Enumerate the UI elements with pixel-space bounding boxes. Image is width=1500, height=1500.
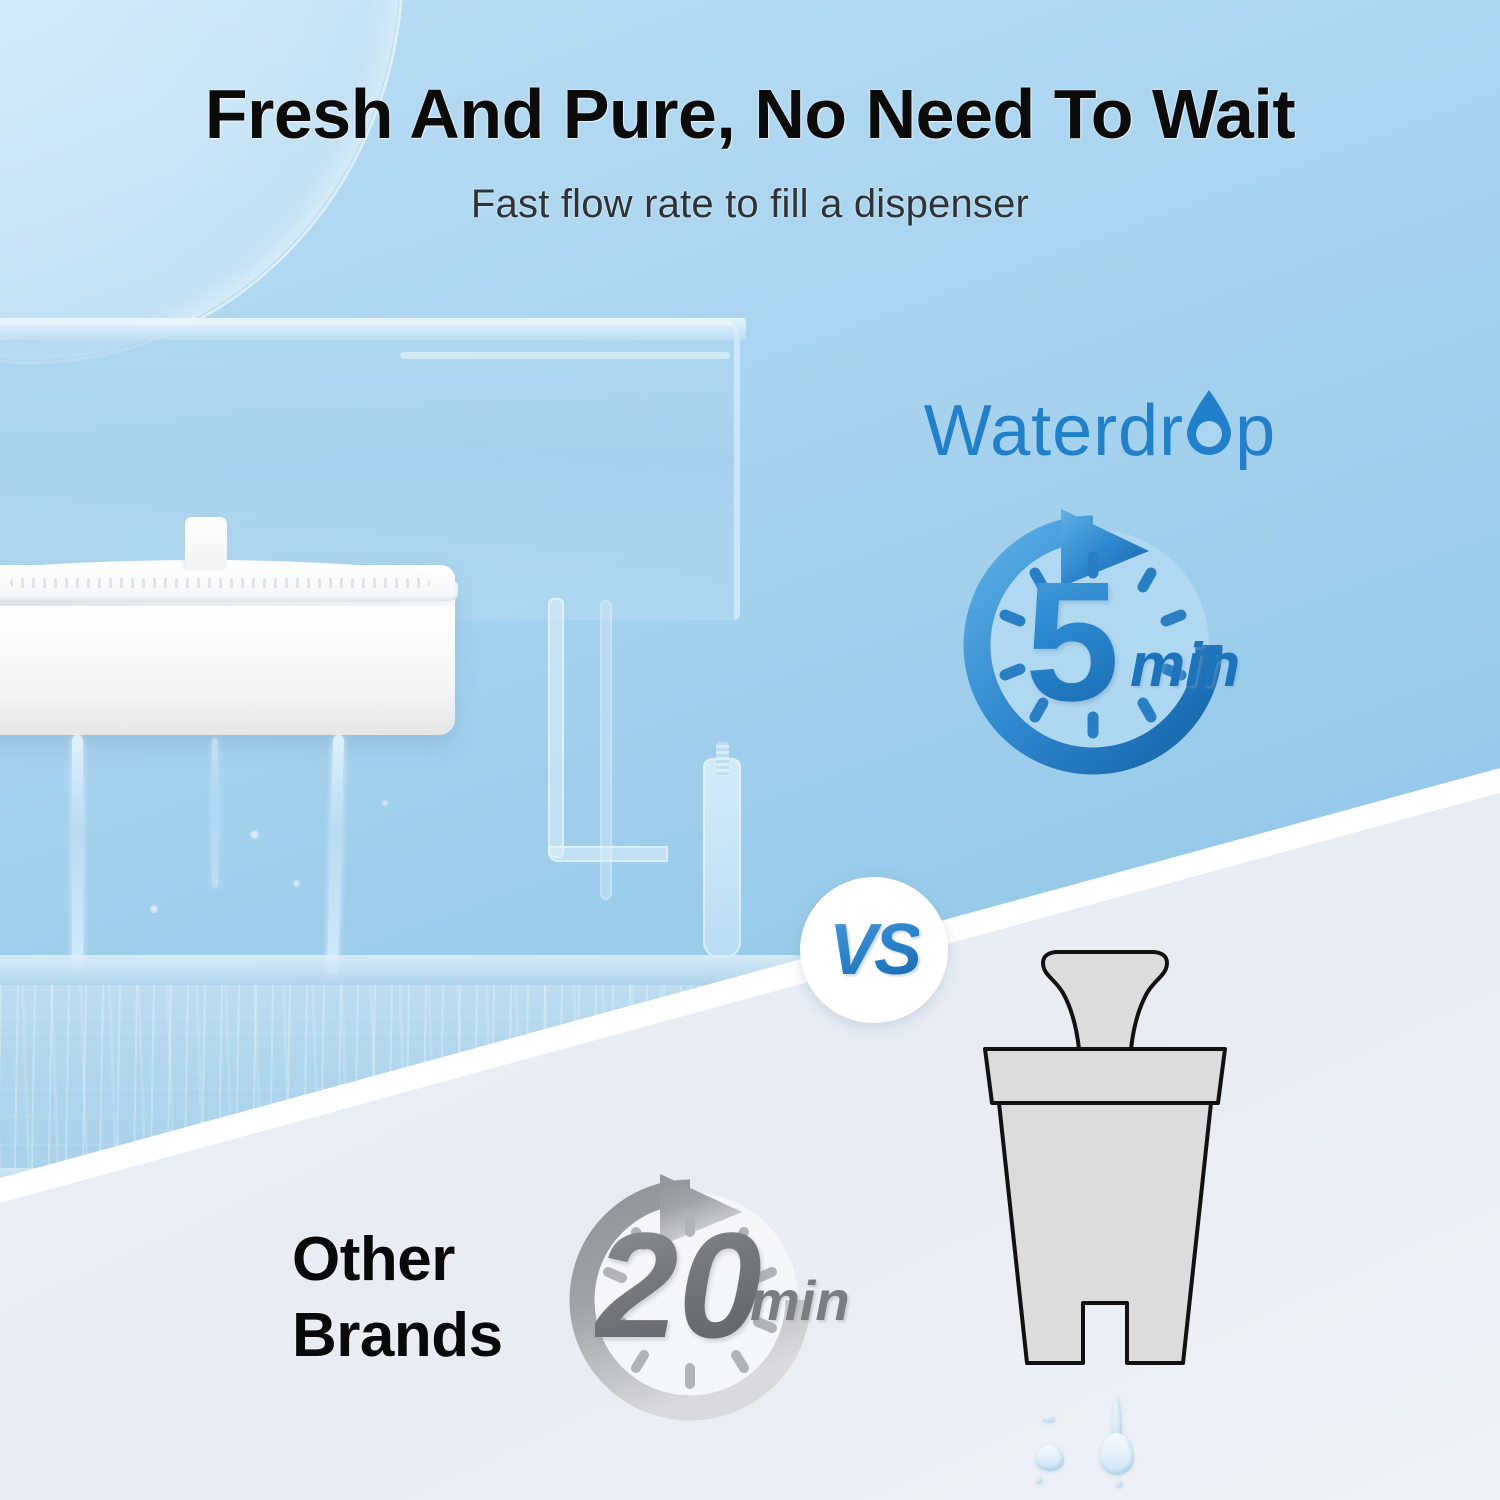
slow-water-drips	[1000, 1395, 1180, 1490]
water-drop	[1100, 1433, 1134, 1475]
other-brands-time-unit: min	[750, 1268, 850, 1333]
waterdrop-time-unit: min	[1130, 630, 1240, 701]
dispenser-tube-vertical	[548, 598, 564, 858]
other-brands-time-value: 20	[595, 1210, 762, 1360]
waterdrop-filter-mesh	[10, 578, 430, 588]
waterdrop-filter-seam	[0, 601, 455, 606]
waterdrop-filter-handle	[185, 517, 227, 569]
vs-label: VS	[829, 909, 919, 991]
other-brands-timer: 20 min	[520, 1160, 850, 1425]
dispenser-nozzle-tip	[716, 742, 729, 776]
water-droplet	[1036, 1477, 1043, 1484]
water-bubble	[250, 830, 259, 839]
water-stream	[72, 735, 83, 970]
page-subtitle: Fast flow rate to fill a dispenser	[0, 182, 1500, 227]
water-stream	[212, 738, 218, 888]
page-title: Fresh And Pure, No Need To Wait	[0, 78, 1500, 152]
other-brands-line1: Other	[292, 1222, 503, 1298]
other-brands-label: Other Brands	[292, 1222, 503, 1373]
vs-badge: VS	[800, 877, 948, 1023]
water-drop-icon	[1180, 386, 1238, 477]
waterdrop-timer: 5 min	[935, 495, 1245, 780]
waterdrop-time-value: 5	[1025, 557, 1120, 727]
dispenser-tube-secondary	[600, 600, 612, 900]
brand-name-suffix: p	[1235, 390, 1276, 472]
brand-logo: Waterdr p	[890, 386, 1310, 476]
water-drop	[1036, 1445, 1064, 1471]
water-droplet	[1042, 1415, 1055, 1423]
water-bubble	[293, 880, 300, 887]
dispenser-rim	[0, 318, 746, 340]
other-brands-line2: Brands	[292, 1298, 503, 1374]
headline-block: Fresh And Pure, No Need To Wait Fast flo…	[0, 78, 1500, 227]
brand-name-prefix: Waterdr	[924, 390, 1184, 472]
water-bubble	[150, 905, 158, 913]
competitor-filter-icon	[955, 945, 1255, 1425]
brand-logo-text: Waterdr p	[924, 386, 1276, 477]
dispenser-nozzle	[703, 758, 741, 958]
marketing-image-stage: Fresh And Pure, No Need To Wait Fast flo…	[0, 0, 1500, 1500]
water-droplet	[1116, 1479, 1123, 1488]
water-bubble	[382, 800, 388, 806]
dispenser-rib	[400, 352, 730, 359]
